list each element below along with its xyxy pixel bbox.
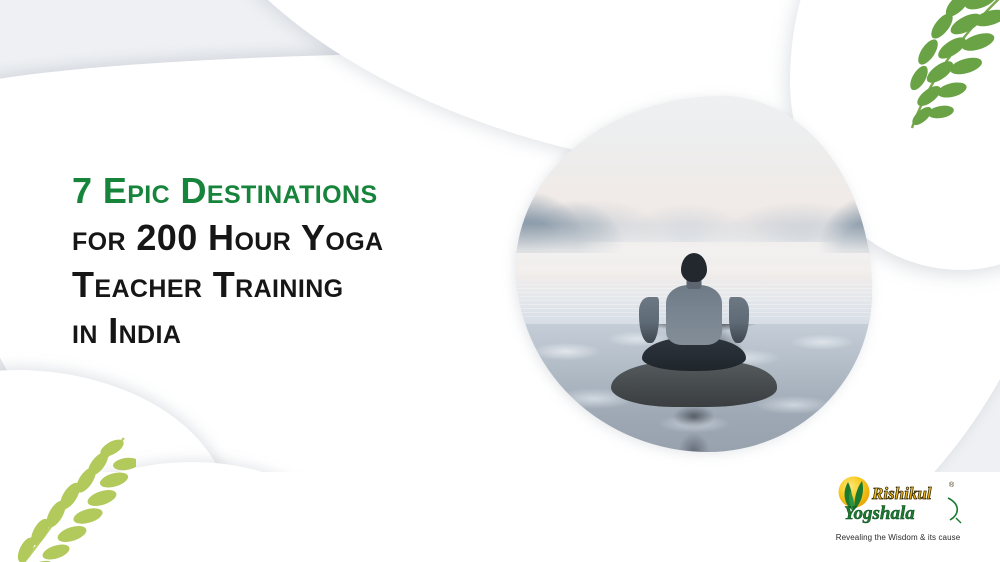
- rishikul-yogshala-logo-icon: Rishikul ® Yogshala: [828, 474, 968, 526]
- banner-canvas: 7 Epic Destinations for 200 Hour Yoga Te…: [0, 0, 1000, 562]
- headline-line-1: 7 Epic Destinations: [72, 168, 492, 215]
- headline-hours-value: 200: [136, 217, 197, 258]
- fern-leaf-icon-top-right: [886, 0, 1000, 140]
- brand-logo[interactable]: Rishikul ® Yogshala Revealing the Wisdom…: [828, 472, 968, 544]
- logo-brand-line-2: Yogshala: [844, 503, 915, 524]
- headline-line-2: for 200 Hour Yoga: [72, 215, 492, 262]
- person-reflection: [629, 405, 759, 452]
- person-right-arm: [729, 297, 749, 343]
- fern-leaf-icon-bottom-left: [6, 434, 136, 562]
- headline-line-2-suffix: Hour Yoga: [198, 217, 384, 258]
- meditating-person: [640, 253, 748, 383]
- headline-line-3: Teacher Training: [72, 262, 492, 309]
- hero-photo: [516, 96, 872, 452]
- logo-trademark: ®: [949, 481, 955, 489]
- person-torso: [666, 285, 722, 345]
- headline-line-2-prefix: for: [72, 217, 136, 258]
- headline-line-4: in India: [72, 308, 492, 355]
- logo-brand-line-1: Rishikul: [871, 484, 932, 503]
- headline: 7 Epic Destinations for 200 Hour Yoga Te…: [72, 168, 492, 355]
- person-head: [681, 253, 707, 282]
- person-left-arm: [639, 297, 659, 343]
- lake-scene-image: [516, 96, 872, 452]
- logo-tagline: Revealing the Wisdom & its cause: [828, 533, 968, 542]
